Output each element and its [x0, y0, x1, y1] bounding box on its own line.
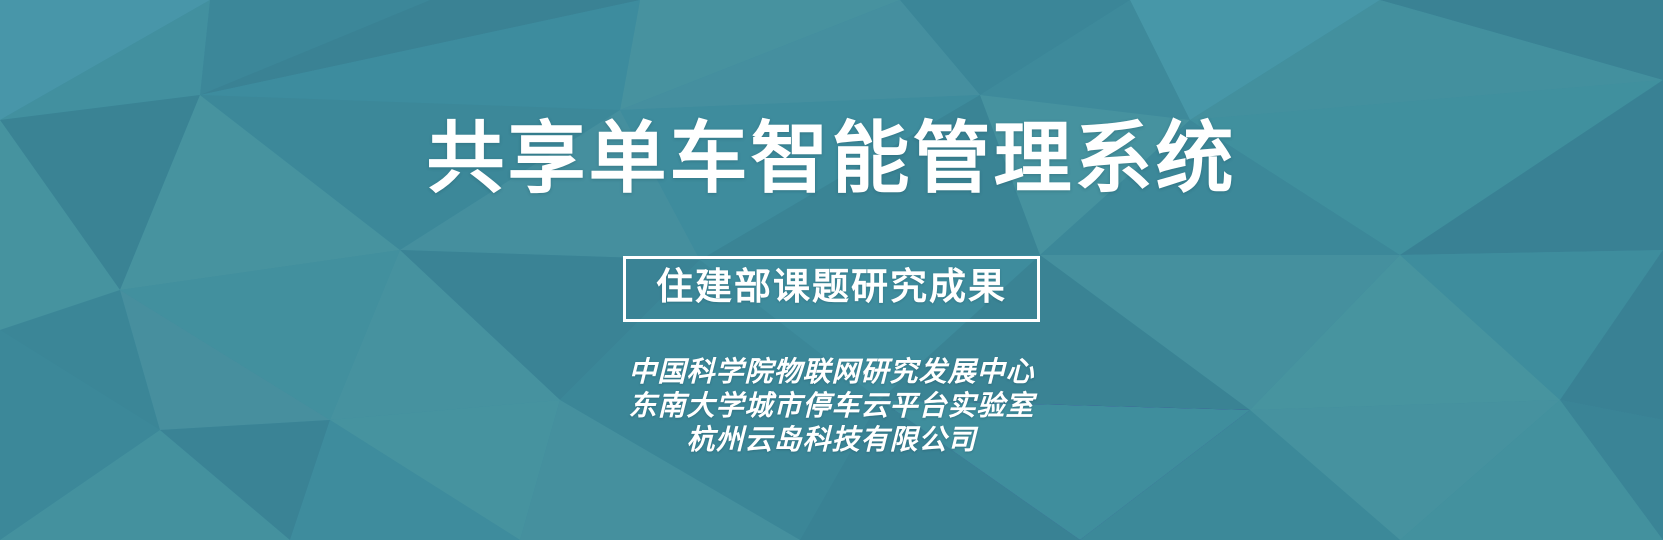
page-title: 共享单车智能管理系统 [426, 116, 1236, 200]
organization-line-1: 中国科学院物联网研究发展中心 [628, 356, 1034, 390]
organization-line-2: 东南大学城市停车云平台实验室 [628, 390, 1034, 424]
status-badge-label: 住建部课题研究成果 [656, 267, 1007, 307]
status-badge: 住建部课题研究成果 [623, 256, 1040, 322]
banner-content: 共享单车智能管理系统 住建部课题研究成果 中国科学院物联网研究发展中心 东南大学… [0, 0, 1663, 540]
title-banner: 共享单车智能管理系统 住建部课题研究成果 中国科学院物联网研究发展中心 东南大学… [0, 0, 1663, 540]
organization-list: 中国科学院物联网研究发展中心 东南大学城市停车云平台实验室 杭州云岛科技有限公司 [628, 356, 1034, 458]
organization-line-3: 杭州云岛科技有限公司 [686, 424, 976, 458]
